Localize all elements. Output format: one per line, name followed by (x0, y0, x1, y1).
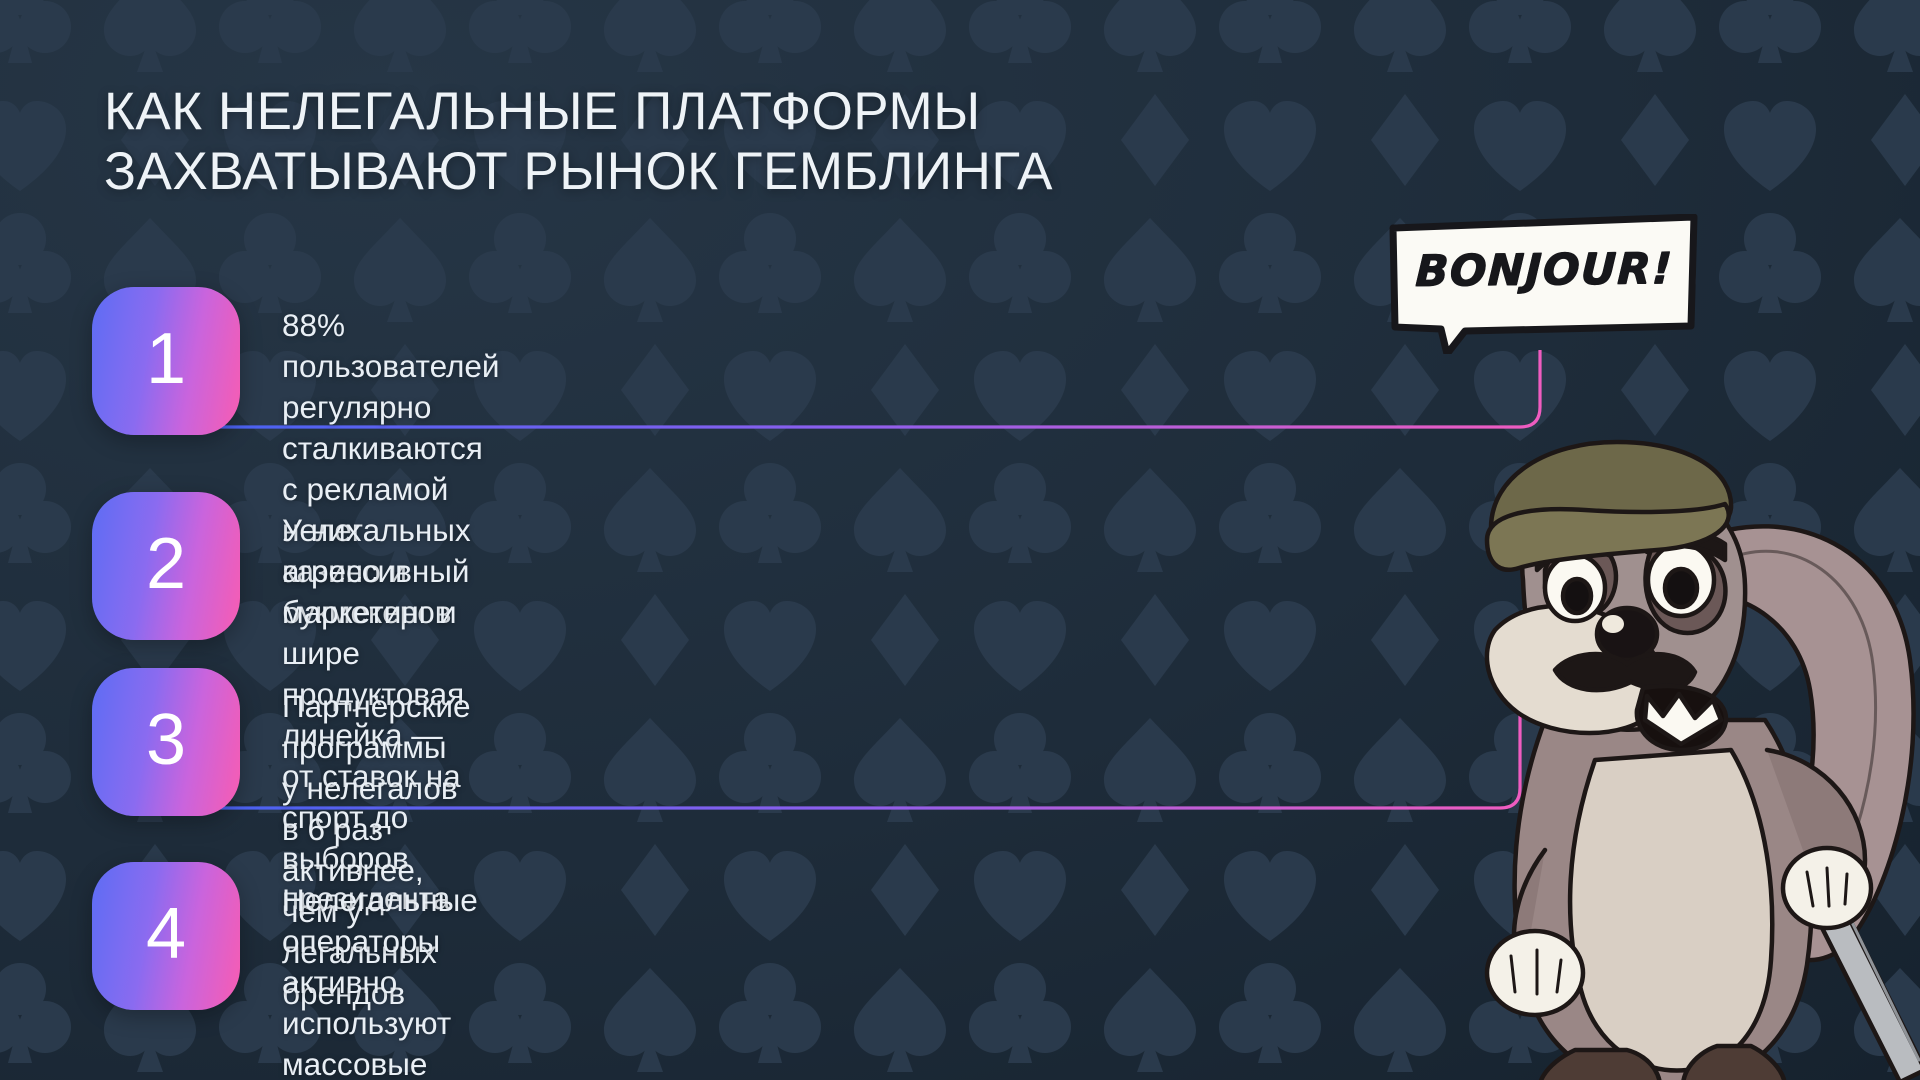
item-number: 2 (146, 528, 186, 600)
item-number-badge: 2 (92, 492, 240, 640)
item-number: 1 (146, 323, 186, 395)
speech-bubble-text: BONJOUR! (1387, 212, 1702, 327)
item-text: Нелегальные операторы активно используют… (282, 880, 478, 1080)
item-number-badge: 4 (92, 862, 240, 1010)
speech-bubble: BONJOUR! (1389, 214, 1699, 346)
item-number-badge: 1 (92, 287, 240, 435)
infographic-canvas: Как нелегальные платформы захватывают ры… (0, 0, 1920, 1080)
item-number: 3 (146, 704, 186, 776)
raccoon-mascot-illustration (1395, 420, 1920, 1080)
item-number-badge: 3 (92, 668, 240, 816)
item-number: 4 (146, 898, 186, 970)
